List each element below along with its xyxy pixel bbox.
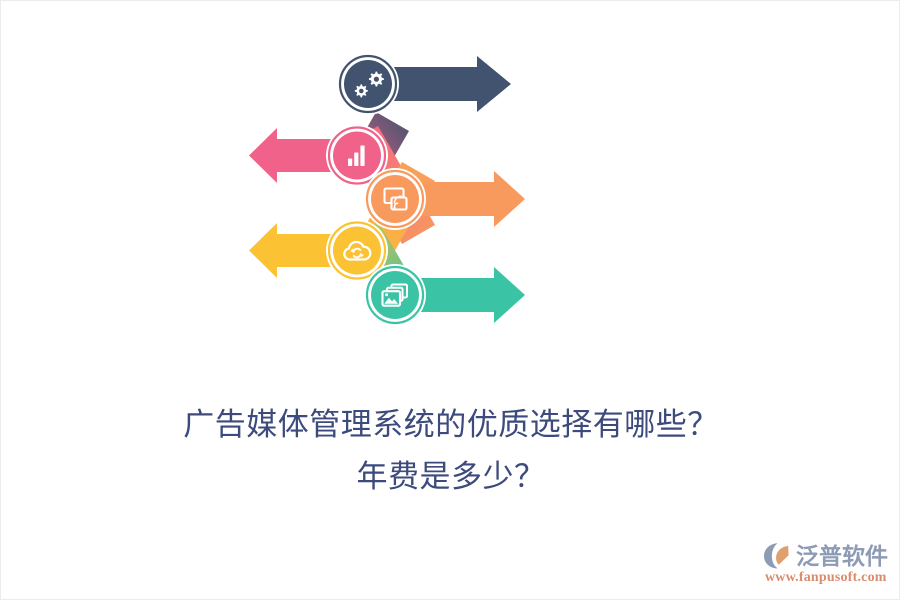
arrow-item-gears[interactable] — [337, 53, 511, 115]
fanpu-crescent-icon — [763, 542, 793, 570]
arrow-item-screen-cast[interactable] — [364, 168, 525, 230]
logo-name: 泛普软件 — [796, 543, 888, 569]
page-title: 广告媒体管理系统的优质选择有哪些？ 年费是多少？ — [1, 399, 900, 503]
icon-disc-yellow — [333, 227, 381, 275]
arrow-item-bar-chart[interactable] — [249, 125, 388, 187]
arrow-item-photos[interactable] — [364, 264, 525, 326]
logo-url: www.fanpusoft.com — [763, 570, 895, 586]
headline-line-2: 年费是多少？ — [1, 451, 900, 503]
page-root: 广告媒体管理系统的优质选择有哪些？ 年费是多少？ 泛普软件 www.fanpus… — [0, 0, 900, 600]
arrows-infographic — [249, 53, 539, 338]
arrow-item-cloud-sync[interactable] — [249, 220, 388, 282]
icon-disc-slate — [344, 60, 392, 108]
headline-line-1: 广告媒体管理系统的优质选择有哪些？ — [1, 399, 900, 451]
brand-logo[interactable]: 泛普软件 www.fanpusoft.com — [763, 535, 895, 591]
logo-row: 泛普软件 — [763, 541, 895, 571]
